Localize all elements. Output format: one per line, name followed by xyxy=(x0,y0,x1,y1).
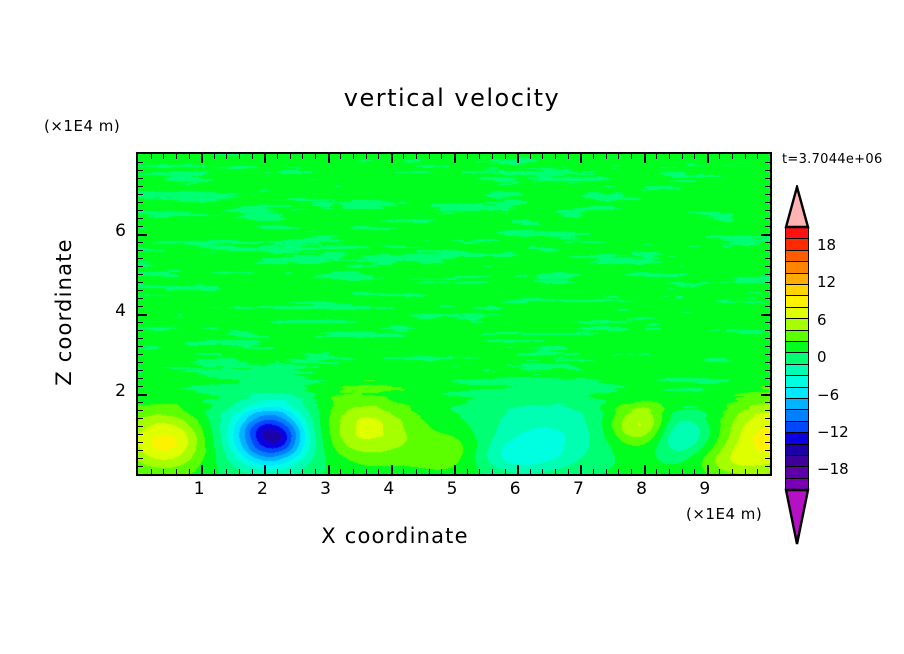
x-minor-tick xyxy=(340,154,341,159)
x-minor-tick xyxy=(353,469,354,474)
x-minor-tick xyxy=(189,469,190,474)
x-major-tick xyxy=(580,154,582,163)
x-minor-tick xyxy=(214,469,215,474)
y-minor-tick xyxy=(765,226,770,227)
y-minor-tick xyxy=(138,290,143,291)
x-minor-tick xyxy=(290,154,291,159)
y-minor-tick xyxy=(138,226,143,227)
x-minor-tick xyxy=(757,154,758,159)
y-minor-tick xyxy=(138,338,143,339)
x-tick-label: 1 xyxy=(184,479,214,499)
y-minor-tick xyxy=(138,162,143,163)
y-minor-tick xyxy=(765,322,770,323)
x-minor-tick xyxy=(505,469,506,474)
x-tick-label: 4 xyxy=(374,479,404,499)
y-minor-tick xyxy=(765,258,770,259)
colorbar-under-range-cap xyxy=(783,488,811,546)
contour-plot-area xyxy=(136,152,772,476)
x-major-tick xyxy=(264,465,266,474)
y-minor-tick xyxy=(765,298,770,299)
y-minor-tick xyxy=(138,362,143,363)
x-minor-tick xyxy=(315,154,316,159)
y-minor-tick xyxy=(138,434,143,435)
y-minor-tick xyxy=(138,354,143,355)
x-minor-tick xyxy=(492,469,493,474)
x-minor-tick xyxy=(429,154,430,159)
x-minor-tick xyxy=(732,469,733,474)
y-minor-tick xyxy=(138,250,143,251)
y-minor-tick xyxy=(765,402,770,403)
x-minor-tick xyxy=(732,154,733,159)
x-minor-tick xyxy=(656,154,657,159)
x-minor-tick xyxy=(694,469,695,474)
x-major-tick xyxy=(454,154,456,163)
x-minor-tick xyxy=(492,154,493,159)
y-minor-tick xyxy=(765,242,770,243)
x-minor-tick xyxy=(277,469,278,474)
x-major-tick xyxy=(328,465,330,474)
x-minor-tick xyxy=(176,469,177,474)
y-minor-tick xyxy=(765,282,770,283)
y-minor-tick xyxy=(765,450,770,451)
y-minor-tick xyxy=(765,306,770,307)
x-minor-tick xyxy=(226,469,227,474)
y-minor-tick xyxy=(765,290,770,291)
x-minor-tick xyxy=(555,469,556,474)
y-minor-tick xyxy=(765,346,770,347)
y-tick-label: 6 xyxy=(104,221,126,241)
x-major-tick xyxy=(517,154,519,163)
time-annotation: t=3.7044e+06 xyxy=(782,152,883,167)
x-minor-tick xyxy=(568,154,569,159)
y-major-tick xyxy=(138,234,147,236)
y-minor-tick xyxy=(138,274,143,275)
y-minor-tick xyxy=(138,282,143,283)
x-minor-tick xyxy=(378,469,379,474)
x-minor-tick xyxy=(593,469,594,474)
y-major-tick xyxy=(138,314,147,316)
x-minor-tick xyxy=(669,154,670,159)
y-tick-label: 2 xyxy=(104,381,126,401)
x-minor-tick xyxy=(479,154,480,159)
x-minor-tick xyxy=(416,469,417,474)
y-minor-tick xyxy=(138,426,143,427)
x-minor-tick xyxy=(530,154,531,159)
y-minor-tick xyxy=(765,250,770,251)
y-minor-tick xyxy=(138,210,143,211)
x-minor-tick xyxy=(176,154,177,159)
x-minor-tick xyxy=(542,469,543,474)
y-minor-tick xyxy=(765,362,770,363)
x-major-tick xyxy=(707,465,709,474)
x-minor-tick xyxy=(631,469,632,474)
y-major-tick xyxy=(761,394,770,396)
y-minor-tick xyxy=(765,410,770,411)
y-minor-tick xyxy=(138,202,143,203)
x-minor-tick xyxy=(214,154,215,159)
x-major-tick xyxy=(707,154,709,163)
x-minor-tick xyxy=(252,154,253,159)
y-minor-tick xyxy=(765,210,770,211)
y-minor-tick xyxy=(138,450,143,451)
y-minor-tick xyxy=(138,178,143,179)
y-major-tick xyxy=(761,314,770,316)
colorbar-tick-label: 6 xyxy=(817,311,827,329)
x-minor-tick xyxy=(163,154,164,159)
x-tick-label: 7 xyxy=(563,479,593,499)
x-minor-tick xyxy=(416,154,417,159)
x-minor-tick xyxy=(757,469,758,474)
x-minor-tick xyxy=(593,154,594,159)
x-minor-tick xyxy=(568,469,569,474)
x-minor-tick xyxy=(403,154,404,159)
y-minor-tick xyxy=(138,402,143,403)
figure-canvas: vertical velocity (×1E4 m) (×1E4 m) t=3.… xyxy=(0,0,904,654)
y-minor-tick xyxy=(138,330,143,331)
x-minor-tick xyxy=(189,154,190,159)
y-minor-tick xyxy=(765,426,770,427)
x-minor-tick xyxy=(163,469,164,474)
x-minor-tick xyxy=(429,469,430,474)
y-minor-tick xyxy=(138,466,143,467)
x-minor-tick xyxy=(719,469,720,474)
x-major-tick xyxy=(644,154,646,163)
y-minor-tick xyxy=(138,306,143,307)
x-tick-label: 9 xyxy=(690,479,720,499)
x-minor-tick xyxy=(682,469,683,474)
x-minor-tick xyxy=(505,154,506,159)
y-minor-tick xyxy=(765,170,770,171)
x-major-tick xyxy=(264,154,266,163)
y-minor-tick xyxy=(765,202,770,203)
x-minor-tick xyxy=(302,469,303,474)
y-minor-tick xyxy=(765,338,770,339)
y-minor-tick xyxy=(138,322,143,323)
y-axis-unit-label: (×1E4 m) xyxy=(44,117,120,135)
y-axis-title: Z coordinate xyxy=(52,212,76,412)
colorbar-tick-label: 18 xyxy=(817,236,836,254)
colorbar-over-range-cap xyxy=(783,185,811,229)
y-minor-tick xyxy=(138,386,143,387)
x-minor-tick xyxy=(555,154,556,159)
x-major-tick xyxy=(391,465,393,474)
y-minor-tick xyxy=(138,378,143,379)
y-minor-tick xyxy=(138,218,143,219)
x-minor-tick xyxy=(694,154,695,159)
x-major-tick xyxy=(201,154,203,163)
x-major-tick xyxy=(454,465,456,474)
x-major-tick xyxy=(391,154,393,163)
y-minor-tick xyxy=(765,418,770,419)
colorbar-tick-label: 0 xyxy=(817,348,827,366)
y-minor-tick xyxy=(138,346,143,347)
y-major-tick xyxy=(138,394,147,396)
y-minor-tick xyxy=(138,194,143,195)
y-minor-tick xyxy=(765,266,770,267)
y-minor-tick xyxy=(138,370,143,371)
y-minor-tick xyxy=(138,242,143,243)
x-minor-tick xyxy=(353,154,354,159)
x-tick-label: 2 xyxy=(247,479,277,499)
x-minor-tick xyxy=(719,154,720,159)
x-minor-tick xyxy=(467,154,468,159)
y-minor-tick xyxy=(138,458,143,459)
y-minor-tick xyxy=(765,274,770,275)
y-minor-tick xyxy=(765,178,770,179)
colorbar: 181260−6−12−18 xyxy=(781,185,901,525)
y-minor-tick xyxy=(138,266,143,267)
x-minor-tick xyxy=(239,154,240,159)
y-minor-tick xyxy=(138,418,143,419)
y-minor-tick xyxy=(765,386,770,387)
x-minor-tick xyxy=(290,469,291,474)
y-minor-tick xyxy=(138,298,143,299)
x-minor-tick xyxy=(530,469,531,474)
x-minor-tick xyxy=(151,154,152,159)
x-minor-tick xyxy=(441,469,442,474)
y-minor-tick xyxy=(765,162,770,163)
y-minor-tick xyxy=(138,410,143,411)
x-minor-tick xyxy=(302,154,303,159)
x-minor-tick xyxy=(606,469,607,474)
y-minor-tick xyxy=(138,442,143,443)
x-minor-tick xyxy=(378,154,379,159)
y-minor-tick xyxy=(765,378,770,379)
x-axis-title: X coordinate xyxy=(0,524,790,548)
x-minor-tick xyxy=(277,154,278,159)
x-major-tick xyxy=(328,154,330,163)
x-minor-tick xyxy=(340,469,341,474)
colorbar-tick-label: −12 xyxy=(817,423,849,441)
y-minor-tick xyxy=(765,218,770,219)
y-minor-tick xyxy=(765,194,770,195)
x-minor-tick xyxy=(745,469,746,474)
y-minor-tick xyxy=(765,458,770,459)
page-title: vertical velocity xyxy=(0,84,904,112)
x-minor-tick xyxy=(366,154,367,159)
x-major-tick xyxy=(580,465,582,474)
y-minor-tick xyxy=(765,186,770,187)
x-minor-tick xyxy=(656,469,657,474)
y-minor-tick xyxy=(765,330,770,331)
y-minor-tick xyxy=(765,466,770,467)
y-minor-tick xyxy=(765,434,770,435)
x-minor-tick xyxy=(252,469,253,474)
x-minor-tick xyxy=(542,154,543,159)
x-axis-unit-label: (×1E4 m) xyxy=(686,505,762,523)
y-minor-tick xyxy=(138,258,143,259)
vertical-velocity-field xyxy=(138,154,770,474)
y-minor-tick xyxy=(765,354,770,355)
x-major-tick xyxy=(517,465,519,474)
x-tick-label: 8 xyxy=(627,479,657,499)
x-minor-tick xyxy=(151,469,152,474)
x-minor-tick xyxy=(631,154,632,159)
x-tick-label: 5 xyxy=(437,479,467,499)
y-minor-tick xyxy=(765,442,770,443)
y-tick-label: 4 xyxy=(104,301,126,321)
colorbar-tick-label: −18 xyxy=(817,460,849,478)
x-minor-tick xyxy=(682,154,683,159)
x-minor-tick xyxy=(479,469,480,474)
y-minor-tick xyxy=(765,370,770,371)
x-minor-tick xyxy=(606,154,607,159)
x-minor-tick xyxy=(239,469,240,474)
x-minor-tick xyxy=(618,154,619,159)
x-tick-label: 3 xyxy=(311,479,341,499)
x-major-tick xyxy=(644,465,646,474)
x-minor-tick xyxy=(315,469,316,474)
colorbar-tick-label: 12 xyxy=(817,273,836,291)
x-minor-tick xyxy=(403,469,404,474)
y-minor-tick xyxy=(138,186,143,187)
x-major-tick xyxy=(201,465,203,474)
x-minor-tick xyxy=(366,469,367,474)
x-minor-tick xyxy=(669,469,670,474)
x-minor-tick xyxy=(467,469,468,474)
y-major-tick xyxy=(761,234,770,236)
x-tick-label: 6 xyxy=(500,479,530,499)
x-minor-tick xyxy=(745,154,746,159)
colorbar-tick-label: −6 xyxy=(817,386,839,404)
x-minor-tick xyxy=(618,469,619,474)
x-minor-tick xyxy=(441,154,442,159)
x-minor-tick xyxy=(226,154,227,159)
y-minor-tick xyxy=(138,170,143,171)
